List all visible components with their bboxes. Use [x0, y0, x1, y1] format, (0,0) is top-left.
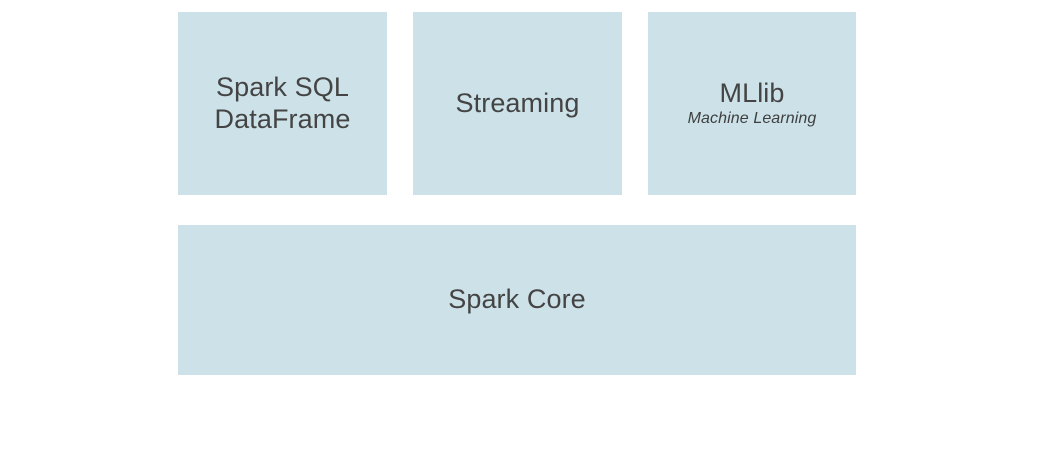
component-box-mllib[interactable]: MLlib Machine Learning: [648, 12, 856, 195]
foundation-box-spark-core[interactable]: Spark Core: [178, 225, 856, 375]
foundation-title-spark-core: Spark Core: [448, 284, 586, 316]
component-subtitle-mllib: Machine Learning: [688, 110, 817, 129]
component-box-spark-sql[interactable]: Spark SQL DataFrame: [178, 12, 387, 195]
spark-stack-diagram: Spark SQL DataFrame Streaming MLlib Mach…: [0, 0, 1053, 457]
component-title-mllib: MLlib: [719, 78, 784, 110]
component-title-spark-sql: Spark SQL DataFrame: [215, 72, 351, 136]
component-box-streaming[interactable]: Streaming: [413, 12, 622, 195]
component-title-streaming: Streaming: [456, 88, 580, 120]
